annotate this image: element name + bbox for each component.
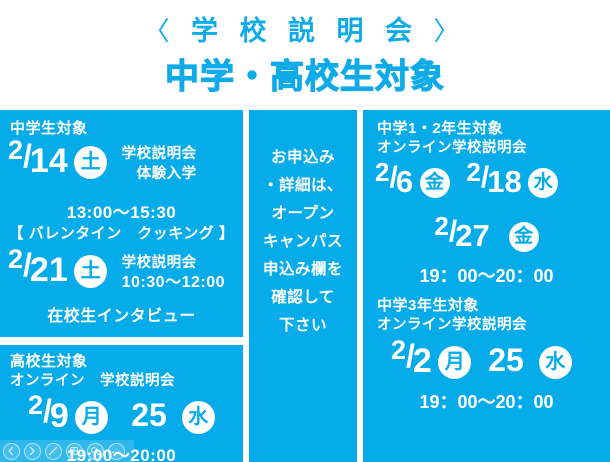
- pencil-icon[interactable]: [45, 443, 62, 460]
- date-feb25: 25: [131, 397, 167, 433]
- event-time-feb14: 13:00〜15:30: [0, 198, 243, 223]
- event-time-feb21: 10:30〜12:00: [122, 273, 225, 293]
- weekday-badge-wed-feb25-junior3: 水: [539, 346, 572, 379]
- date-feb2: 2/2: [391, 338, 434, 377]
- event-time-junior-3-online: 19：00〜20：00: [363, 388, 610, 414]
- panel-online-sessions: 中学1・2年生対象 オンライン学校説明会 2/6 金 2/18 水 2/27 金…: [363, 110, 610, 462]
- date-feb18: 2/18: [466, 160, 523, 196]
- notice-line-7: 下さい: [249, 312, 357, 340]
- search-icon[interactable]: [87, 443, 104, 460]
- notice-line-4: キャンパス: [249, 228, 357, 256]
- event-note-student-interview: 在校生インタビュー: [0, 306, 243, 327]
- grid-icon[interactable]: [66, 443, 83, 460]
- event-row-feb27: 2/27 金: [363, 214, 610, 253]
- date-feb9: 2/9: [28, 393, 71, 432]
- event-titles-feb14: 学校説明会 体験入学: [122, 144, 197, 184]
- forward-icon[interactable]: [24, 443, 41, 460]
- date-feb14: 2/14: [8, 138, 70, 177]
- event-note-valentine-cooking: 【 バレンタイン クッキング 】: [0, 222, 243, 243]
- weekday-badge-wed-feb18: 水: [528, 168, 558, 198]
- bracket-close-glyph: 〉: [434, 16, 467, 46]
- date-feb6: 2/6: [375, 160, 415, 196]
- weekday-badge-wed-feb25: 水: [182, 401, 215, 434]
- poster-header: 〈 学 校 説 明 会 〉 中学・高校生対象: [0, 0, 610, 110]
- floating-toolbar[interactable]: [0, 440, 134, 462]
- panel-application-notice: お申込み ・詳細は、 オープン キャンパス 申込み欄を 確認して 下さい: [249, 110, 357, 462]
- event-row-feb2-feb25: 2/2 月 25 水: [391, 338, 572, 380]
- event-title-trial-class: 体験入学: [122, 164, 197, 184]
- event-row-feb9-feb25: 2/9 月 25 水: [28, 393, 215, 435]
- date-feb27: 2/27: [434, 214, 491, 250]
- notice-line-5: 申込み欄を: [249, 256, 357, 284]
- audience-label-high-school: 高校生対象: [10, 351, 88, 372]
- weekday-badge-mon-feb9: 月: [75, 401, 108, 434]
- bracket-open-glyph: 〈: [143, 16, 176, 46]
- event-time-junior-1-2-online: 19：00〜20：00: [363, 262, 610, 288]
- event-row-feb21: 2/21 土 学校説明会 10:30〜12:00: [8, 247, 225, 293]
- event-type-online-junior-3: オンライン学校説明会: [377, 315, 527, 335]
- weekday-badge-mon-feb2: 月: [438, 346, 471, 379]
- event-row-feb14: 2/14 土 学校説明会 体験入学: [8, 138, 197, 184]
- notice-line-6: 確認して: [249, 284, 357, 312]
- event-title-info-session: 学校説明会: [122, 144, 197, 164]
- date-feb21: 2/21: [8, 247, 70, 286]
- panel-junior-high-info-session: 中学生対象 2/14 土 学校説明会 体験入学 13:00〜15:30 【 バレ…: [0, 110, 243, 337]
- weekday-badge-sat-feb14: 土: [74, 146, 107, 179]
- date-feb25-junior3: 25: [488, 342, 524, 378]
- notice-line-3: オープン: [249, 200, 357, 228]
- audience-label-junior-3: 中学3年生対象: [377, 295, 479, 316]
- event-title-info-session-2: 学校説明会: [122, 253, 225, 273]
- more-icon[interactable]: [108, 443, 125, 460]
- page-title: 〈 学 校 説 明 会 〉: [0, 14, 610, 48]
- event-type-online-junior-1-2: オンライン学校説明会: [377, 138, 527, 158]
- weekday-badge-fri-feb27: 金: [509, 222, 539, 252]
- weekday-badge-sat-feb21: 土: [74, 255, 107, 288]
- audience-label-junior-1-2: 中学1・2年生対象: [377, 118, 503, 139]
- notice-line-2: ・詳細は、: [249, 172, 357, 200]
- event-titles-feb21: 学校説明会 10:30〜12:00: [122, 253, 225, 293]
- page-subtitle: 中学・高校生対象: [0, 56, 610, 98]
- event-type-online-high-school: オンライン 学校説明会: [10, 371, 175, 391]
- notice-line-1: お申込み: [249, 144, 357, 172]
- event-row-feb6-feb18: 2/6 金 2/18 水: [375, 160, 558, 199]
- back-icon[interactable]: [3, 443, 20, 460]
- application-notice-text: お申込み ・詳細は、 オープン キャンパス 申込み欄を 確認して 下さい: [249, 144, 357, 340]
- weekday-badge-fri-feb6: 金: [420, 168, 450, 198]
- poster-root: 〈 学 校 説 明 会 〉 中学・高校生対象 中学生対象 2/14 土 学校説明…: [0, 0, 610, 462]
- page-title-text: 学 校 説 明 会: [191, 16, 419, 46]
